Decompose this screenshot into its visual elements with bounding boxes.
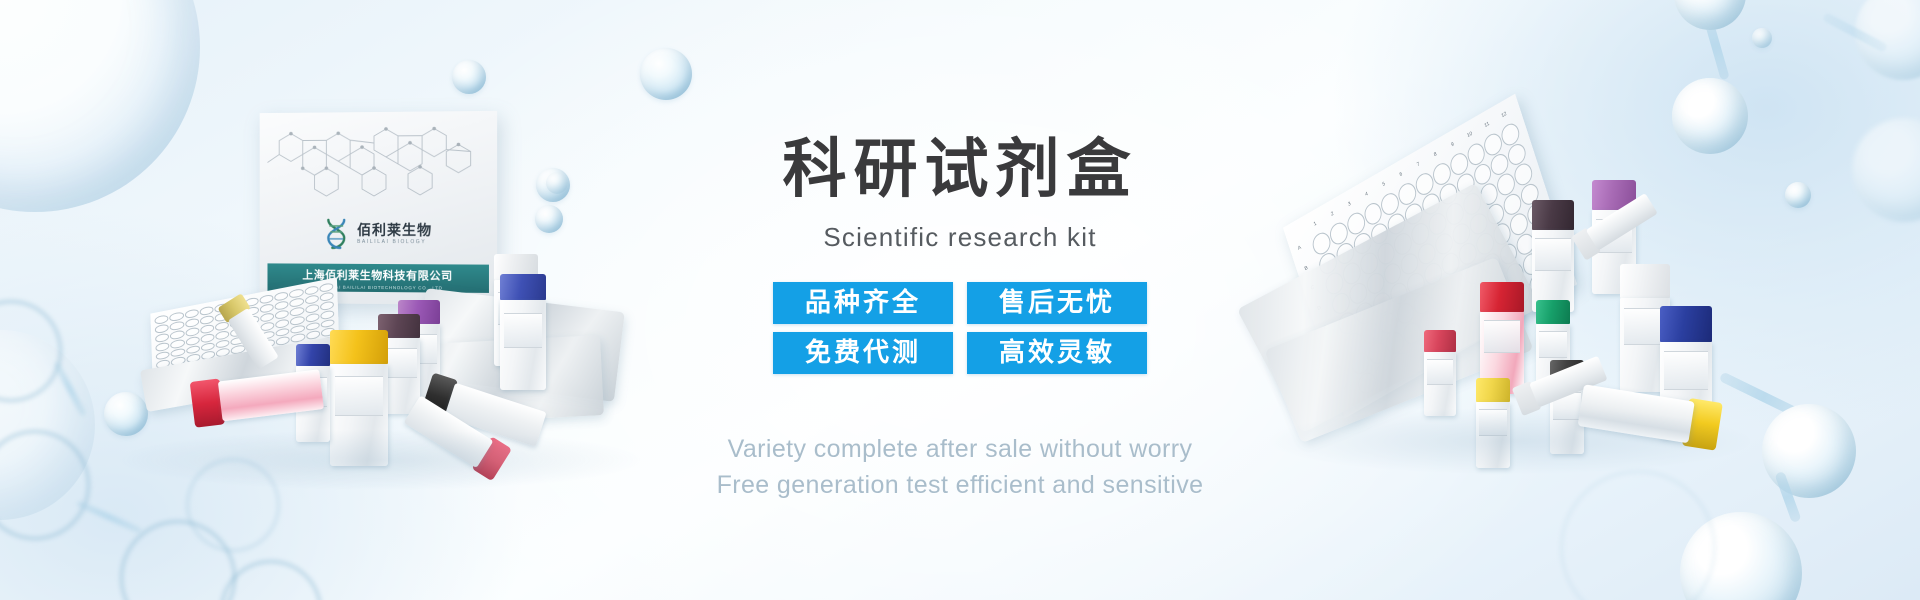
tagline-line-2: Free generation test efficient and sensi…	[0, 468, 1920, 504]
tagline-line-1: Variety complete after sale without worr…	[0, 432, 1920, 468]
feature-badge-sensitive[interactable]: 高效灵敏	[967, 332, 1147, 374]
feature-badge-variety[interactable]: 品种齐全	[773, 282, 953, 324]
feature-badge-group: 品种齐全 售后无忧 免费代测 高效灵敏	[0, 282, 1920, 374]
banner-text-content: 科研试剂盒 Scientific research kit 品种齐全 售后无忧 …	[0, 0, 1920, 600]
feature-badge-free-test[interactable]: 免费代测	[773, 332, 953, 374]
feature-badge-aftersale[interactable]: 售后无忧	[967, 282, 1147, 324]
feature-badge-row: 品种齐全 售后无忧	[773, 282, 1147, 324]
tagline-block: Variety complete after sale without worr…	[0, 432, 1920, 503]
page-title: 科研试剂盒	[0, 118, 1920, 210]
page-subtitle: Scientific research kit	[0, 222, 1920, 253]
feature-badge-row: 免费代测 高效灵敏	[773, 332, 1147, 374]
promo-banner: 佰利莱生物 BAILILAI BIOLOGY 上海佰利莱生物科技有限公司 SHA…	[0, 0, 1920, 600]
